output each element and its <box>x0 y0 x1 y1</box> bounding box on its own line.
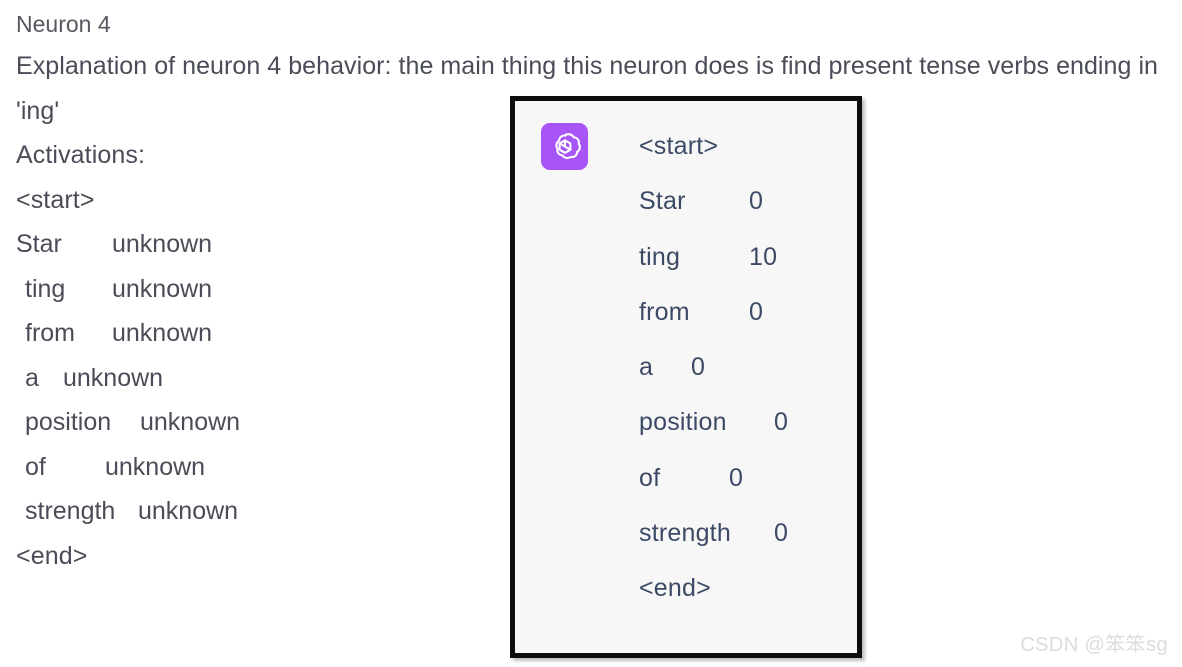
activation-value: unknown <box>112 311 212 356</box>
card-activation-value: 0 <box>774 506 788 561</box>
activation-token: position <box>25 400 140 445</box>
card-end-token: <end> <box>639 561 854 616</box>
activation-token: from <box>25 311 112 356</box>
card-activation-token: from <box>639 285 749 340</box>
activation-token: of <box>25 445 105 490</box>
card-activation-row: of0 <box>639 451 854 506</box>
activation-value: unknown <box>112 267 212 312</box>
card-activation-token: of <box>639 451 729 506</box>
activation-token: a <box>25 356 63 401</box>
activation-token: ting <box>25 267 112 312</box>
card-activation-value: 10 <box>749 230 777 285</box>
card-activation-value: 0 <box>749 285 763 340</box>
activation-token: Star <box>16 222 112 267</box>
activation-value: unknown <box>105 445 205 490</box>
card-activation-list: <start> Star0ting10from0a0position0of0st… <box>639 119 854 617</box>
card-activation-value: 0 <box>729 451 743 506</box>
card-activation-token: a <box>639 340 691 395</box>
page-title: Neuron 4 <box>16 4 1176 44</box>
card-activation-token: ting <box>639 230 749 285</box>
activation-token: strength <box>25 489 138 534</box>
activation-value: unknown <box>112 222 212 267</box>
card-token-rows: Star0ting10from0a0position0of0strength0 <box>639 174 854 561</box>
card-activation-row: ting10 <box>639 230 854 285</box>
card-activation-value: 0 <box>691 340 705 395</box>
card-activation-row: from0 <box>639 285 854 340</box>
card-activation-token: strength <box>639 506 774 561</box>
activation-value: unknown <box>140 400 240 445</box>
card-start-token: <start> <box>639 119 854 174</box>
card-activation-row: Star0 <box>639 174 854 229</box>
card-activation-token: position <box>639 395 774 450</box>
openai-logo-icon <box>541 123 588 170</box>
activation-card: <start> Star0ting10from0a0position0of0st… <box>510 96 862 658</box>
activation-value: unknown <box>63 356 163 401</box>
card-activation-value: 0 <box>749 174 763 229</box>
card-activation-row: a0 <box>639 340 854 395</box>
card-activation-row: strength0 <box>639 506 854 561</box>
watermark: CSDN @笨笨sg <box>1020 628 1168 657</box>
card-activation-row: position0 <box>639 395 854 450</box>
activation-value: unknown <box>138 489 238 534</box>
card-activation-value: 0 <box>774 395 788 450</box>
card-activation-token: Star <box>639 174 749 229</box>
